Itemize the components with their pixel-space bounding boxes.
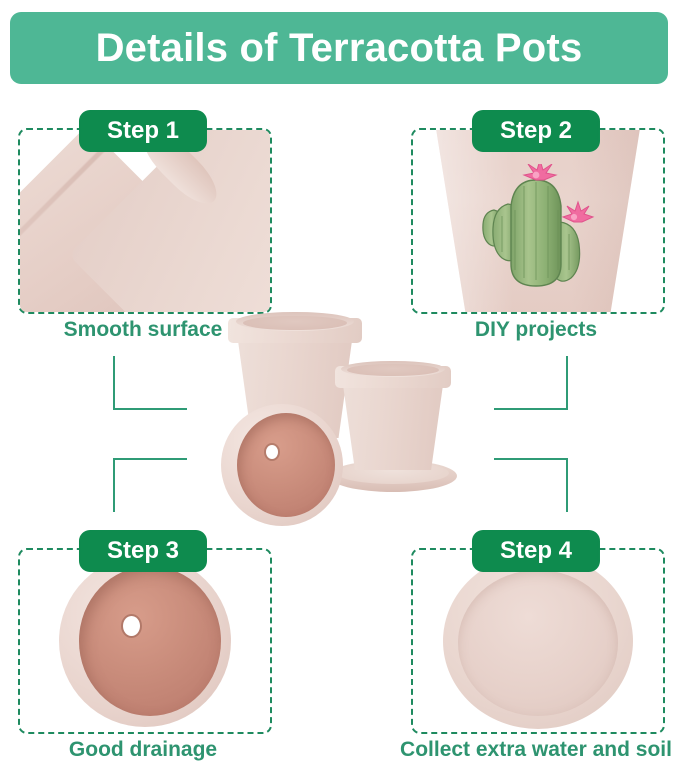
tipped-pot bbox=[221, 404, 343, 526]
step-3-badge-label: Step 3 bbox=[107, 537, 179, 564]
step-panel-1: Step 1 Smooth surface bbox=[18, 128, 268, 310]
step-1-caption: Smooth surface bbox=[64, 318, 223, 342]
tipped-pot-interior bbox=[237, 413, 335, 517]
cactus-flower-right bbox=[563, 202, 593, 222]
step-1-badge-label: Step 1 bbox=[107, 117, 179, 144]
step-3-image-frame bbox=[18, 548, 272, 734]
step-2-caption: DIY projects bbox=[475, 318, 597, 342]
step-2-artwork-diy-cactus-pot bbox=[413, 130, 663, 312]
page-title: Details of Terracotta Pots bbox=[96, 28, 583, 68]
step-4-image-frame bbox=[411, 548, 665, 734]
saucer-inner-shape bbox=[458, 570, 618, 716]
cactus-flower-top bbox=[524, 164, 556, 180]
step-panel-2: Step 2 DIY projects bbox=[411, 128, 661, 310]
infographic-canvas: Details of Terracotta Pots Step 1 Smooth… bbox=[0, 0, 679, 769]
step-4-artwork-saucer-tray bbox=[413, 550, 663, 732]
step-panel-3: Step 3 Good drainage bbox=[18, 548, 268, 730]
step-3-caption: Good drainage bbox=[69, 738, 217, 762]
step-4-badge-label: Step 4 bbox=[500, 537, 572, 564]
step-1-artwork-smooth-surface bbox=[20, 130, 270, 312]
step-panel-4: Step 4 Collect extra water and soil bbox=[411, 548, 661, 730]
drainage-hole bbox=[123, 616, 140, 636]
step-2-badge: Step 2 bbox=[474, 112, 598, 150]
step-3-badge: Step 3 bbox=[81, 532, 205, 570]
step-4-badge: Step 4 bbox=[474, 532, 598, 570]
step-3-artwork-drainage-hole bbox=[20, 550, 270, 732]
connector-step-3 bbox=[113, 458, 187, 512]
connector-step-2 bbox=[494, 356, 568, 410]
cactus-illustration bbox=[474, 164, 602, 294]
pot-interior-shape bbox=[79, 566, 221, 716]
step-4-caption: Collect extra water and soil bbox=[400, 738, 672, 762]
step-2-badge-label: Step 2 bbox=[500, 117, 572, 144]
center-product-group bbox=[225, 318, 455, 530]
connector-step-1 bbox=[113, 356, 187, 410]
step-2-image-frame bbox=[411, 128, 665, 314]
step-1-image-frame bbox=[18, 128, 272, 314]
connector-step-4 bbox=[494, 458, 568, 512]
tall-pot-mouth-interior bbox=[243, 316, 348, 330]
tipped-pot-drainage-hole bbox=[266, 445, 278, 459]
step-1-badge: Step 1 bbox=[81, 112, 205, 150]
medium-pot bbox=[337, 366, 449, 470]
header-banner: Details of Terracotta Pots bbox=[10, 12, 668, 84]
